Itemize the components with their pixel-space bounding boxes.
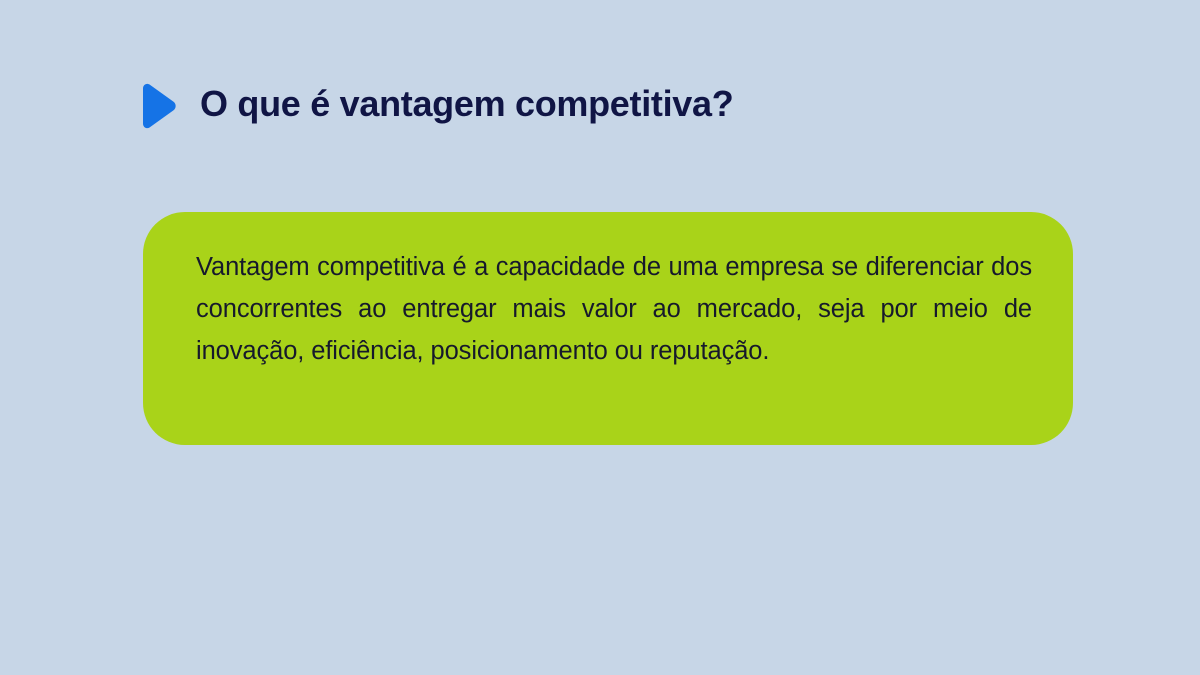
play-triangle-icon xyxy=(136,82,178,130)
slide-canvas: O que é vantagem competitiva? Vantagem c… xyxy=(0,0,1200,675)
page-title: O que é vantagem competitiva? xyxy=(200,84,733,124)
definition-card: Vantagem competitiva é a capacidade de u… xyxy=(143,212,1073,445)
definition-card-text: Vantagem competitiva é a capacidade de u… xyxy=(196,246,1032,372)
slide-heading: O que é vantagem competitiva? xyxy=(136,78,733,130)
